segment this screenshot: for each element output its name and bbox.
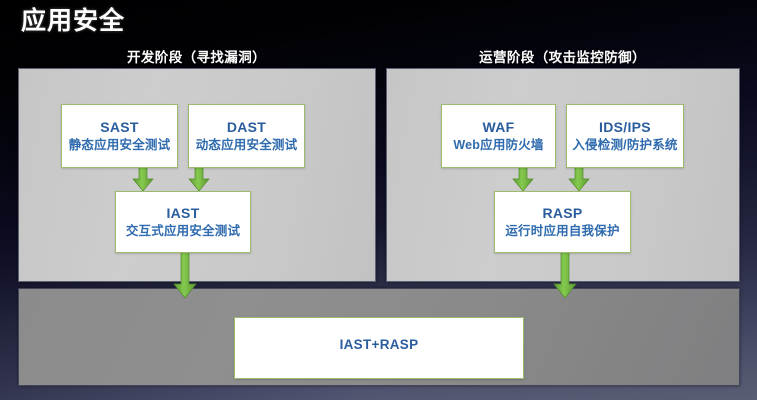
card-iast[interactable]: IAST 交互式应用安全测试 (115, 191, 251, 253)
card-rasp-abbr: RASP (542, 204, 582, 223)
slide-canvas: 应用安全 开发阶段（寻找漏洞） 运营阶段（攻击监控防御） SAST 静态应用安全… (0, 0, 757, 400)
card-waf-abbr: WAF (482, 118, 514, 137)
card-rasp[interactable]: RASP 运行时应用自我保护 (494, 191, 631, 253)
card-ids-ips-abbr: IDS/IPS (599, 118, 651, 137)
arrow-down-icon-sast-to-iast (132, 166, 154, 192)
card-waf-label: Web应用防火墙 (453, 137, 543, 155)
card-waf[interactable]: WAF Web应用防火墙 (441, 104, 556, 168)
card-sast-label: 静态应用安全测试 (69, 137, 171, 155)
phase-label-development: 开发阶段（寻找漏洞） (18, 46, 375, 66)
card-ids-ips[interactable]: IDS/IPS 入侵检测/防护系统 (566, 104, 684, 168)
card-iast-label: 交互式应用安全测试 (126, 223, 240, 241)
card-sast-abbr: SAST (100, 118, 139, 137)
page-title: 应用安全 (21, 1, 125, 37)
arrow-down-icon-ids-ips-to-rasp (568, 166, 590, 192)
card-ids-ips-label: 入侵检测/防护系统 (572, 137, 677, 155)
card-dast[interactable]: DAST 动态应用安全测试 (188, 104, 305, 168)
arrow-down-icon-iast-to-combined (173, 251, 197, 299)
card-dast-abbr: DAST (227, 118, 266, 137)
card-iast-abbr: IAST (166, 204, 199, 223)
card-iast-rasp-abbr: IAST+RASP (340, 336, 419, 354)
phase-label-operations: 运营阶段（攻击监控防御） (386, 46, 739, 66)
card-sast[interactable]: SAST 静态应用安全测试 (61, 104, 178, 168)
arrow-down-icon-rasp-to-combined (553, 251, 577, 299)
arrow-down-icon-waf-to-rasp (512, 166, 534, 192)
card-dast-label: 动态应用安全测试 (196, 137, 298, 155)
card-iast-rasp[interactable]: IAST+RASP (234, 317, 524, 379)
card-rasp-label: 运行时应用自我保护 (505, 223, 619, 241)
arrow-down-icon-dast-to-iast (188, 166, 210, 192)
